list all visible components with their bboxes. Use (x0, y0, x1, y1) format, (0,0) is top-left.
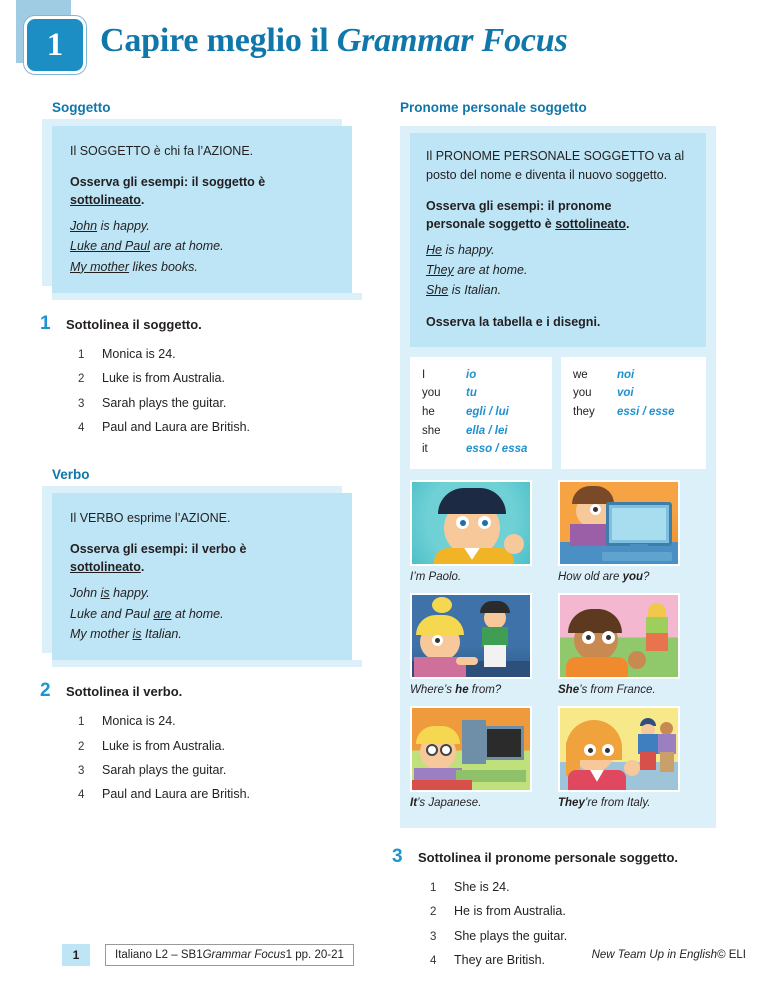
page-header: 1 Capire meglio il Grammar Focus (0, 0, 768, 100)
item-number: 4 (78, 784, 102, 806)
pronoun-en: he (422, 403, 466, 422)
pronome-example-1: He is happy. (426, 240, 690, 260)
picture-grid: I’m Paolo. (410, 469, 706, 819)
picture-cell: Where’s he from? (410, 593, 558, 706)
pronoun-en: you (573, 384, 617, 403)
table-row: sheella / lei (422, 422, 540, 441)
verbo-instruction: Osserva gli esempi: il verbo èsottolinea… (70, 540, 334, 576)
soggetto-example-3-subject: My mother (70, 260, 129, 274)
list-item[interactable]: 3Sarah plays the guitar. (78, 391, 392, 415)
list-item[interactable]: 2He is from Australia. (430, 899, 768, 923)
verbo-example-3-verb: is (133, 627, 142, 641)
info-box-front-layer: Il VERBO esprime l’AZIONE. Osserva gli e… (52, 493, 352, 660)
pronoun-en: they (573, 403, 617, 422)
girl-pointing-at-boy-illustration (410, 593, 532, 679)
table-row: youvoi (573, 384, 694, 403)
caption-post: ’re from Italy. (585, 797, 651, 809)
pronoun-it: essi / esse (617, 403, 675, 422)
left-column: Soggetto Il SOGGETTO è chi fa l’AZIONE. … (0, 100, 392, 807)
item-number: 2 (430, 901, 454, 923)
pronoun-en: you (422, 384, 466, 403)
pronome-example-3-rest: is Italian. (448, 283, 501, 297)
item-text: Paul and Laura are British. (102, 415, 250, 439)
item-text: Luke is from Australia. (102, 734, 225, 758)
footer-source-italic: Grammar Focus (203, 949, 286, 961)
exercise-3-number: 3 (392, 846, 418, 868)
footer-source-post: 1 pp. 20-21 (286, 949, 344, 961)
pronoun-panel: Il PRONOME PERSONALE SOGGETTO va al post… (400, 126, 716, 828)
item-number: 3 (78, 760, 102, 782)
exercise-1-header: 1 Sottolinea il soggetto. (66, 313, 392, 335)
item-number: 1 (78, 711, 102, 733)
table-row: theyessi / esse (573, 403, 694, 422)
footer-credit-post: © ELI (717, 949, 746, 961)
page-footer: 1 Italiano L2 – SB1 Grammar Focus 1 pp. … (0, 944, 768, 970)
verbo-example-1-rest: happy. (110, 586, 150, 600)
unit-number-badge: 1 (24, 16, 86, 74)
section-label-pronome: Pronome personale soggetto (400, 100, 768, 115)
verbo-example-1: John is happy. (70, 583, 334, 603)
pronoun-en: I (422, 366, 466, 385)
item-text: Monica is 24. (102, 709, 176, 733)
pronoun-info-box: Il PRONOME PERSONALE SOGGETTO va al post… (410, 133, 706, 347)
caption-bold: he (455, 684, 468, 696)
footer-source-box: Italiano L2 – SB1 Grammar Focus 1 pp. 20… (105, 944, 354, 966)
verbo-example-1-pre: John (70, 586, 101, 600)
footer-credit: New Team Up in English © ELI (592, 944, 746, 966)
boy-waving-illustration (410, 480, 532, 566)
pronome-instruction: Osserva gli esempi: il pronomepersonale … (426, 197, 690, 233)
picture-caption: How old are you? (558, 571, 698, 583)
verbo-example-2-verb: are (153, 607, 171, 621)
soggetto-example-2-subject: Luke and Paul (70, 239, 150, 253)
exercise-2-items: 1Monica is 24. 2Luke is from Australia. … (78, 709, 392, 807)
pronoun-it: noi (617, 366, 634, 385)
pronoun-en: we (573, 366, 617, 385)
list-item[interactable]: 4Paul and Laura are British. (78, 415, 392, 439)
worksheet-page: 1 Capire meglio il Grammar Focus Soggett… (0, 0, 768, 994)
list-item[interactable]: 3Sarah plays the guitar. (78, 758, 392, 782)
pronome-instruction-b: personale soggetto è (426, 217, 555, 231)
list-item[interactable]: 2Luke is from Australia. (78, 734, 392, 758)
pronome-example-3: She is Italian. (426, 280, 690, 300)
verbo-instruction-a: Osserva gli esempi: il verbo è (70, 542, 246, 556)
boy-at-computer-illustration (558, 480, 680, 566)
soggetto-instruction-a: Osserva gli esempi: il soggetto è (70, 175, 265, 189)
picture-cell: It’s Japanese. (410, 706, 558, 819)
pronome-definition: Il PRONOME PERSONALE SOGGETTO va al post… (426, 147, 690, 185)
verbo-example-3: My mother is Italian. (70, 624, 334, 644)
caption-pre: Where’s (410, 684, 455, 696)
pronoun-it: esso / essa (466, 440, 527, 459)
verbo-example-2-rest: at home. (171, 607, 223, 621)
boy-pointing-at-girl-illustration (558, 593, 680, 679)
soggetto-example-2-rest: are at home. (150, 239, 224, 253)
picture-caption: She’s from France. (558, 684, 698, 696)
item-number: 1 (430, 877, 454, 899)
caption-post: ’s Japanese. (417, 797, 481, 809)
soggetto-example-1-rest: is happy. (97, 219, 150, 233)
item-text: He is from Australia. (454, 899, 566, 923)
table-row: heegli / lui (422, 403, 540, 422)
pronome-instruction-end: . (626, 217, 629, 231)
item-number: 1 (78, 344, 102, 366)
table-row: youtu (422, 384, 540, 403)
picture-caption: They’re from Italy. (558, 797, 698, 809)
picture-cell: How old are you? (558, 480, 706, 593)
soggetto-example-1-subject: John (70, 219, 97, 233)
unit-number-label: 1 (47, 29, 64, 62)
pronome-example-2-pronoun: They (426, 263, 454, 277)
exercise-2-title: Sottolinea il verbo. (66, 684, 182, 699)
pronoun-it: io (466, 366, 476, 385)
picture-caption: It’s Japanese. (410, 797, 550, 809)
table-row: Iio (422, 366, 540, 385)
exercise-1-title: Sottolinea il soggetto. (66, 317, 202, 332)
item-text: Sarah plays the guitar. (102, 758, 226, 782)
exercise-3-header: 3 Sottolinea il pronome personale sogget… (416, 846, 768, 868)
verbo-example-2: Luke and Paul are at home. (70, 604, 334, 624)
boy-with-computer-illustration (410, 706, 532, 792)
info-box-verbo: Il VERBO esprime l’AZIONE. Osserva gli e… (52, 493, 352, 660)
pronome-example-2-rest: are at home. (454, 263, 528, 277)
pronome-example-1-rest: is happy. (442, 243, 495, 257)
list-item[interactable]: 4Paul and Laura are British. (78, 782, 392, 806)
caption-bold: you (623, 571, 643, 583)
verbo-example-2-pre: Luke and Paul (70, 607, 153, 621)
pronoun-en: it (422, 440, 466, 459)
pronoun-it: ella / lei (466, 422, 508, 441)
item-text: Paul and Laura are British. (102, 782, 250, 806)
caption-bold: It (410, 797, 417, 809)
item-text: Sarah plays the guitar. (102, 391, 226, 415)
list-item[interactable]: 1Monica is 24. (78, 342, 392, 366)
pronoun-table: Iio youtu heegli / lui sheella / lei ite… (410, 357, 706, 469)
footer-page-number: 1 (62, 944, 90, 966)
verbo-instruction-end: . (141, 560, 144, 574)
page-title: Capire meglio il Grammar Focus (100, 22, 568, 60)
exercise-2-header: 2 Sottolinea il verbo. (66, 680, 392, 702)
pronoun-table-plural: wenoi youvoi theyessi / esse (561, 357, 706, 469)
caption-pre: I’m Paolo. (410, 571, 461, 583)
section-label-soggetto: Soggetto (52, 100, 392, 115)
section-label-verbo: Verbo (52, 467, 392, 482)
exercise-2-number: 2 (40, 680, 66, 702)
pronoun-en: she (422, 422, 466, 441)
footer-source-pre: Italiano L2 – SB1 (115, 949, 203, 961)
verbo-example-3-pre: My mother (70, 627, 133, 641)
soggetto-definition: Il SOGGETTO è chi fa l’AZIONE. (70, 142, 334, 161)
girl-pointing-at-couple-illustration (558, 706, 680, 792)
caption-bold: They (558, 797, 585, 809)
page-title-plain: Capire meglio il (100, 22, 337, 59)
caption-bold: She (558, 684, 579, 696)
info-box-front-layer: Il SOGGETTO è chi fa l’AZIONE. Osserva g… (52, 126, 352, 293)
table-row: itesso / essa (422, 440, 540, 459)
picture-cell: They’re from Italy. (558, 706, 706, 819)
list-item[interactable]: 1Monica is 24. (78, 709, 392, 733)
pronome-example-3-pronoun: She (426, 283, 448, 297)
soggetto-instruction-end: . (141, 193, 144, 207)
caption-post: from? (469, 684, 502, 696)
verbo-example-3-rest: Italian. (142, 627, 182, 641)
pronome-instruction-underlined: sottolineato (555, 217, 626, 231)
caption-post: ’s from France. (579, 684, 655, 696)
page-title-italic: Grammar Focus (337, 22, 568, 59)
item-number: 4 (78, 417, 102, 439)
pronoun-table-singular: Iio youtu heegli / lui sheella / lei ite… (410, 357, 552, 469)
item-text: She is 24. (454, 875, 510, 899)
picture-caption: I’m Paolo. (410, 571, 550, 583)
soggetto-example-3-rest: likes books. (129, 260, 198, 274)
verbo-example-1-verb: is (101, 586, 110, 600)
picture-cell: She’s from France. (558, 593, 706, 706)
picture-cell: I’m Paolo. (410, 480, 558, 593)
list-item[interactable]: 1She is 24. (430, 875, 768, 899)
list-item[interactable]: 2Luke is from Australia. (78, 366, 392, 390)
item-number: 2 (78, 368, 102, 390)
caption-post: ? (643, 571, 649, 583)
pronoun-it: voi (617, 384, 634, 403)
exercise-3-title: Sottolinea il pronome personale soggetto… (418, 850, 678, 865)
verbo-instruction-b: sottolineato (70, 560, 141, 574)
soggetto-example-1: John is happy. (70, 216, 334, 236)
picture-caption: Where’s he from? (410, 684, 550, 696)
table-instruction: Osserva la tabella e i disegni. (426, 313, 690, 331)
item-text: Luke is from Australia. (102, 366, 225, 390)
pronoun-it: tu (466, 384, 477, 403)
item-text: Monica is 24. (102, 342, 176, 366)
exercise-2: 2 Sottolinea il verbo. 1Monica is 24. 2L… (66, 680, 392, 807)
soggetto-example-3: My mother likes books. (70, 257, 334, 277)
soggetto-example-2: Luke and Paul are at home. (70, 236, 334, 256)
pronome-example-2: They are at home. (426, 260, 690, 280)
verbo-definition: Il VERBO esprime l’AZIONE. (70, 509, 334, 528)
exercise-1-number: 1 (40, 313, 66, 335)
item-number: 2 (78, 736, 102, 758)
caption-pre: How old are (558, 571, 623, 583)
right-column: Pronome personale soggetto Il PRONOME PE… (392, 100, 768, 972)
item-number: 3 (78, 393, 102, 415)
soggetto-instruction: Osserva gli esempi: il soggetto èsottoli… (70, 173, 334, 209)
exercise-1-items: 1Monica is 24. 2Luke is from Australia. … (78, 342, 392, 440)
soggetto-instruction-b: sottolineato (70, 193, 141, 207)
footer-credit-italic: New Team Up in English (592, 949, 718, 961)
pronome-instruction-a: Osserva gli esempi: il pronome (426, 199, 611, 213)
table-row: wenoi (573, 366, 694, 385)
exercise-1: 1 Sottolinea il soggetto. 1Monica is 24.… (66, 313, 392, 440)
pronome-example-1-pronoun: He (426, 243, 442, 257)
info-box-soggetto: Il SOGGETTO è chi fa l’AZIONE. Osserva g… (52, 126, 352, 293)
pronoun-it: egli / lui (466, 403, 509, 422)
